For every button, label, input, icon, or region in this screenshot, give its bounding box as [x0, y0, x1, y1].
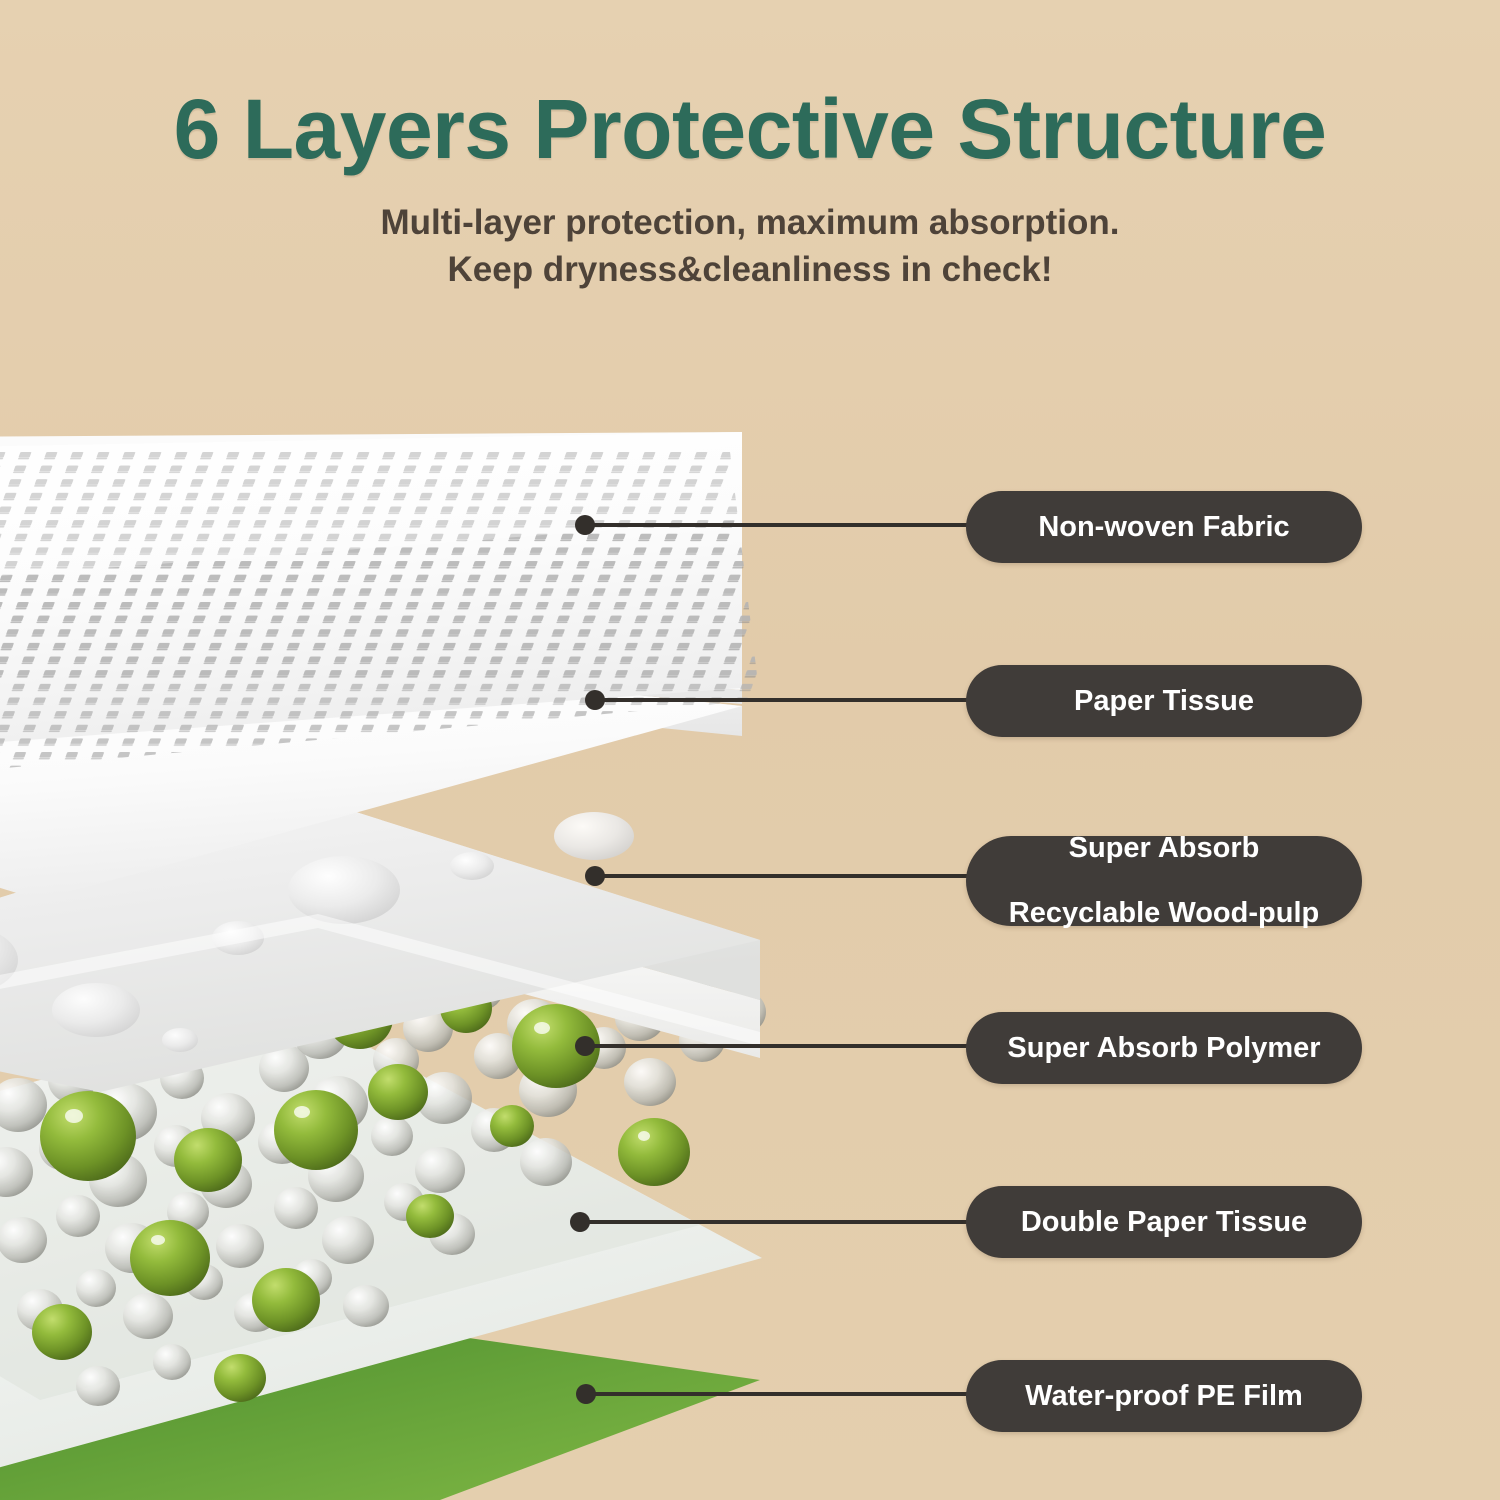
layer-label-list: Non-woven Fabric Paper Tissue Super Abso… — [0, 0, 1500, 1500]
label-text: Non-woven Fabric — [1038, 511, 1289, 543]
label-paper-tissue[interactable]: Paper Tissue — [966, 665, 1362, 737]
label-text: Double Paper Tissue — [1021, 1206, 1307, 1238]
label-text: Paper Tissue — [1074, 685, 1254, 717]
label-text-multiline: Super Absorb Recyclable Wood-pulp — [1009, 832, 1319, 929]
label-double-paper-tissue[interactable]: Double Paper Tissue — [966, 1186, 1362, 1258]
label-line-1: Super Absorb — [1009, 832, 1319, 864]
label-water-proof-pe-film[interactable]: Water-proof PE Film — [966, 1360, 1362, 1432]
label-text: Super Absorb Polymer — [1007, 1032, 1320, 1064]
label-text: Water-proof PE Film — [1025, 1380, 1303, 1412]
label-super-absorb-polymer[interactable]: Super Absorb Polymer — [966, 1012, 1362, 1084]
label-non-woven-fabric[interactable]: Non-woven Fabric — [966, 491, 1362, 563]
label-line-2: Recyclable Wood-pulp — [1009, 897, 1319, 929]
product-infographic-poster: 6 Layers Protective Structure Multi-laye… — [0, 0, 1500, 1500]
label-super-absorb-recyclable-wood-pulp[interactable]: Super Absorb Recyclable Wood-pulp — [966, 836, 1362, 926]
